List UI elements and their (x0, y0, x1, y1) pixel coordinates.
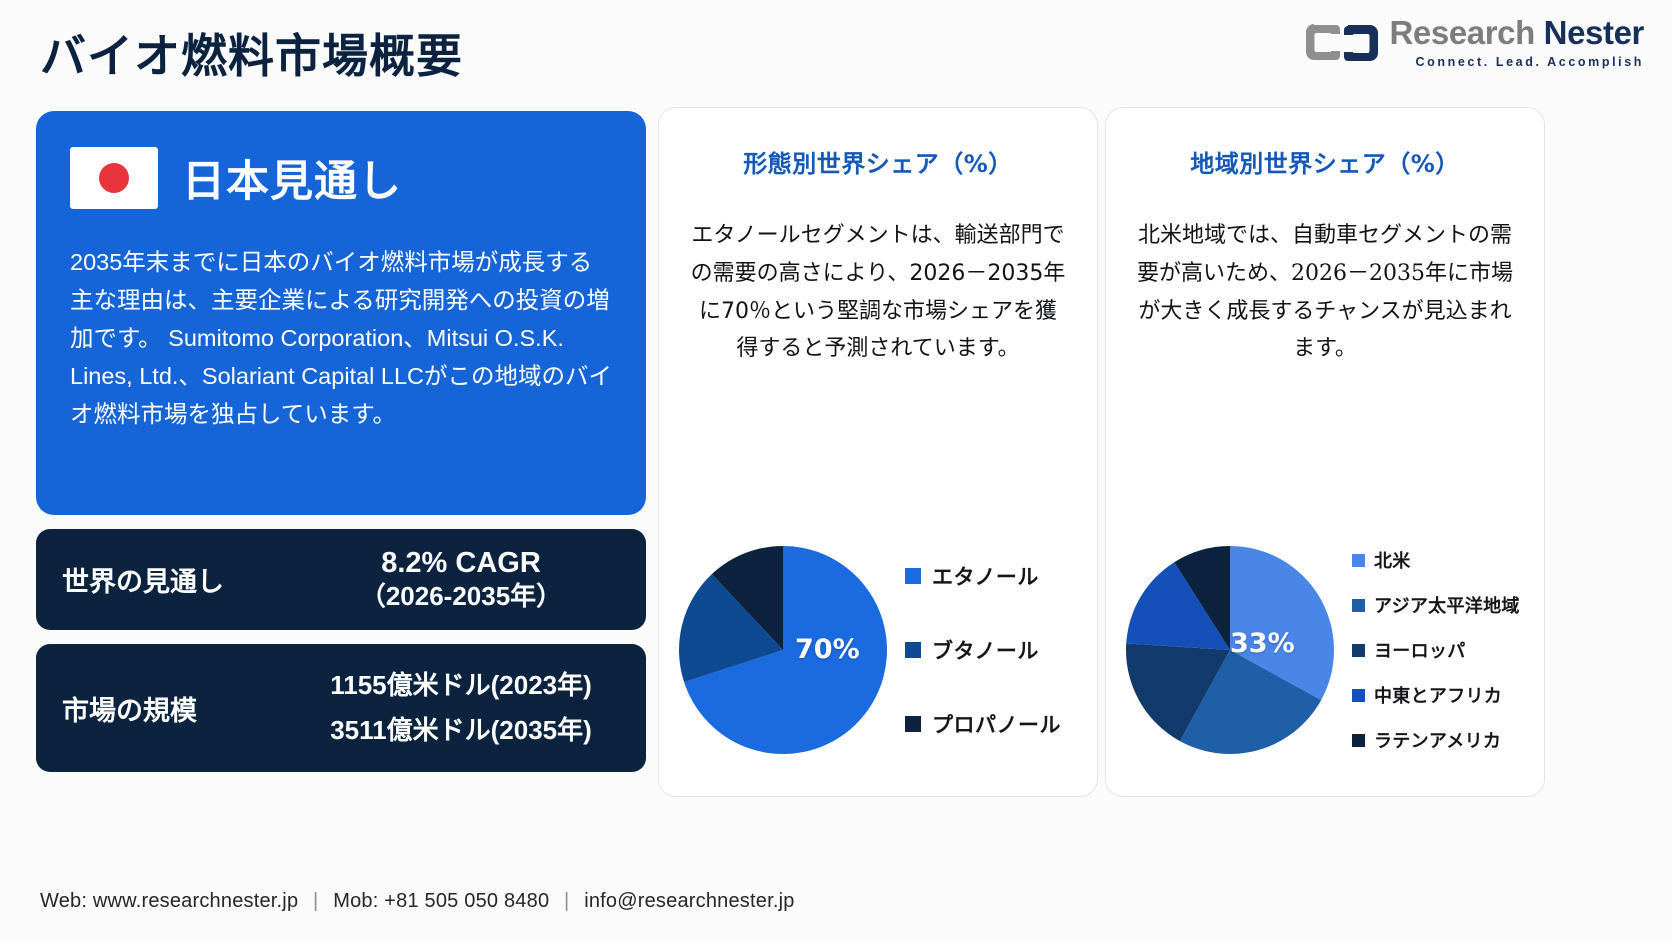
region-share-title: 地域別世界シェア（%） (1126, 144, 1524, 179)
form-share-legend: エタノールブタノールプロパノール (889, 561, 1097, 739)
form-share-panel: 形態別世界シェア（%） エタノールセグメントは、輸送部門での需要の高さにより、2… (658, 107, 1098, 797)
footer-email: info@researchnester.jp (584, 890, 794, 912)
legend-label: ブタノール (932, 635, 1039, 665)
legend-swatch-icon (1352, 689, 1365, 702)
footer-contact: Web: www.researchnester.jp | Mob: +81 50… (40, 890, 795, 913)
region-share-chart-area: 33% 北米アジア太平洋地域ヨーロッパ中東とアフリカラテンアメリカ (1106, 520, 1544, 780)
global-outlook-card: 世界の見通し 8.2% CAGR （2026-2035年） (36, 529, 646, 630)
global-outlook-label: 世界の見通し (62, 560, 302, 599)
legend-swatch-icon (1352, 599, 1365, 612)
legend-swatch-icon (1352, 644, 1365, 657)
logo-name-nester: Nester (1544, 14, 1644, 51)
japan-card-title: 日本見通し (182, 147, 402, 209)
legend-label: 北米 (1374, 547, 1411, 573)
footer-mobile: Mob: +81 505 050 8480 (333, 890, 549, 912)
page-title: バイオ燃料市場概要 (40, 20, 463, 86)
legend-swatch-icon (905, 642, 921, 658)
footer-web: Web: www.researchnester.jp (40, 890, 298, 912)
legend-label: ラテンアメリカ (1374, 727, 1501, 753)
form-share-body: エタノールセグメントは、輸送部門での需要の高さにより、2026－2035年に70… (679, 217, 1077, 368)
legend-swatch-icon (905, 716, 921, 732)
legend-item[interactable]: ヨーロッパ (1352, 637, 1544, 663)
market-size-forecast: 3511億米ドル(2035年) (302, 708, 620, 753)
region-share-panel: 地域別世界シェア（%） 北米地域では、自動車セグメントの需要が高いため、2026… (1105, 107, 1545, 797)
legend-item[interactable]: 中東とアフリカ (1352, 682, 1544, 708)
logo-text-block: Research Nester Connect. Lead. Accomplis… (1390, 16, 1645, 69)
left-column: 日本見通し 2035年末までに日本のバイオ燃料市場が成長する主な理由は、主要企業… (36, 111, 646, 772)
japan-flag-icon (70, 147, 158, 209)
header: バイオ燃料市場概要 Research Nester Connect. Lead.… (0, 0, 1672, 100)
legend-item[interactable]: エタノール (905, 561, 1097, 591)
market-size-label: 市場の規模 (62, 689, 302, 728)
global-outlook-values: 8.2% CAGR （2026-2035年） (302, 546, 620, 613)
legend-item[interactable]: ラテンアメリカ (1352, 727, 1544, 753)
region-share-legend: 北米アジア太平洋地域ヨーロッパ中東とアフリカラテンアメリカ (1336, 547, 1544, 753)
footer-separator-2: | (555, 890, 578, 912)
legend-label: アジア太平洋地域 (1374, 592, 1520, 618)
market-size-values: 1155億米ドル(2023年) 3511億米ドル(2035年) (302, 663, 620, 752)
japan-outlook-card: 日本見通し 2035年末までに日本のバイオ燃料市場が成長する主な理由は、主要企業… (36, 111, 646, 515)
legend-item[interactable]: ブタノール (905, 635, 1097, 665)
legend-item[interactable]: プロパノール (905, 709, 1097, 739)
legend-label: プロパノール (932, 709, 1061, 739)
logo-name: Research Nester (1390, 16, 1645, 49)
form-share-pie: 70% (677, 544, 889, 756)
form-share-title: 形態別世界シェア（%） (679, 144, 1077, 179)
legend-label: 中東とアフリカ (1374, 682, 1502, 708)
market-size-card: 市場の規模 1155億米ドル(2023年) 3511億米ドル(2035年) (36, 644, 646, 772)
global-outlook-period: （2026-2035年） (302, 580, 620, 613)
interlocking-links-icon (1304, 17, 1380, 69)
form-share-pie-datalabel: 70% (795, 634, 860, 665)
legend-swatch-icon (905, 568, 921, 584)
region-share-pie-datalabel: 33% (1230, 628, 1295, 659)
brand-logo: Research Nester Connect. Lead. Accomplis… (1304, 16, 1645, 69)
infographic-page: バイオ燃料市場概要 Research Nester Connect. Lead.… (0, 0, 1672, 941)
legend-label: エタノール (932, 561, 1039, 591)
legend-swatch-icon (1352, 734, 1365, 747)
logo-name-research: Research (1390, 14, 1544, 51)
form-share-chart-area: 70% エタノールブタノールプロパノール (659, 520, 1097, 780)
japan-card-body: 2035年末までに日本のバイオ燃料市場が成長する主な理由は、主要企業による研究開… (70, 243, 612, 433)
global-outlook-cagr: 8.2% CAGR (302, 546, 620, 580)
legend-label: ヨーロッパ (1374, 637, 1466, 663)
region-share-body: 北米地域では、自動車セグメントの需要が高いため、2026－2035年に市場が大き… (1126, 217, 1524, 368)
japan-card-header: 日本見通し (70, 147, 612, 209)
logo-tagline: Connect. Lead. Accomplish (1390, 55, 1645, 69)
legend-item[interactable]: アジア太平洋地域 (1352, 592, 1544, 618)
legend-swatch-icon (1352, 554, 1365, 567)
region-share-pie: 33% (1124, 544, 1336, 756)
market-size-base: 1155億米ドル(2023年) (302, 663, 620, 708)
japan-flag-sun (99, 163, 129, 193)
legend-item[interactable]: 北米 (1352, 547, 1544, 573)
footer-separator-1: | (304, 890, 327, 912)
